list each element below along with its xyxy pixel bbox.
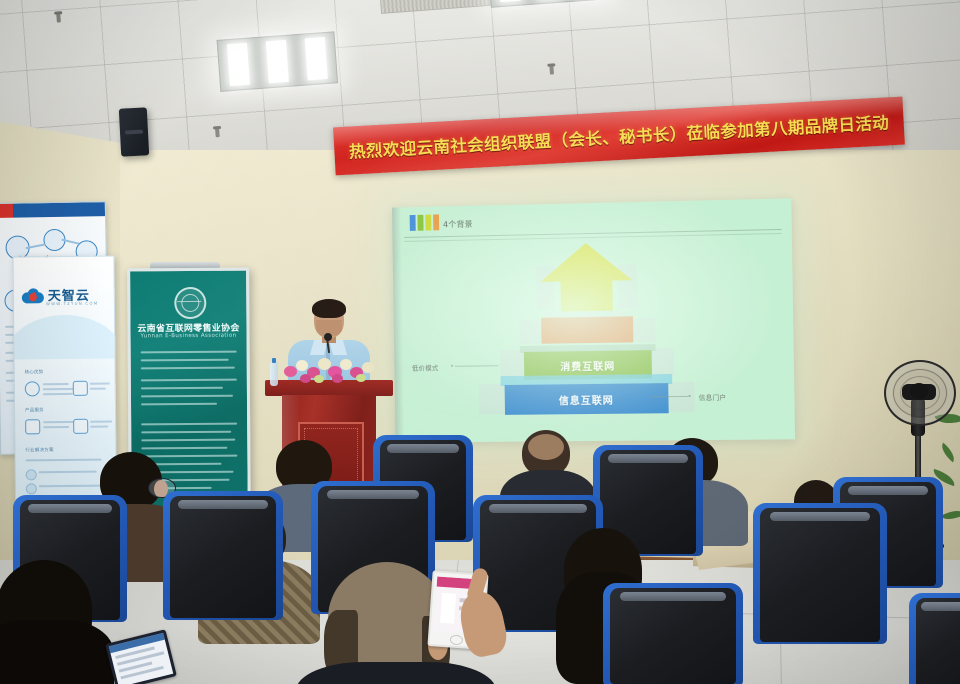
- sprinkler-icon-3: [549, 65, 554, 74]
- ceiling-light-1: [217, 31, 338, 92]
- chair-r2-5[interactable]: [760, 508, 880, 642]
- cloud-icon: [22, 288, 44, 304]
- sprinkler-icon-1: [56, 13, 61, 22]
- bar-blue-icon: [410, 215, 416, 231]
- projection-screen: 4个背景 消费互联网 信息互联网 低价模式 信息门户: [392, 198, 795, 442]
- pyramid-ghost-blue-left: [479, 384, 507, 414]
- tianzhiyun-url: WWW.TZYUN.COM: [46, 301, 99, 307]
- fan-hub: [910, 383, 928, 399]
- callout-left-label: 低价模式: [412, 362, 439, 372]
- conference-room-photo: 热烈欢迎云南社会组织联盟（会长、秘书长）莅临参加第八期品牌日活动 4个背景: [0, 0, 960, 684]
- callout-left-dot: [451, 365, 453, 367]
- poster-section-3: 行业解决方案: [25, 447, 53, 453]
- pyramid-tier-blue: 信息互联网: [505, 383, 669, 415]
- association-name-en: Yunnan E-Business Association: [135, 333, 243, 340]
- callout-right-label: 信息门户: [699, 391, 727, 401]
- wall-speaker: [119, 107, 149, 156]
- pyramid-arrow-top: [536, 240, 637, 312]
- pyramid-tier-orange: [541, 316, 633, 343]
- bar-orange-icon: [433, 214, 439, 230]
- bar-lime-icon: [425, 215, 431, 231]
- chair-r1-1[interactable]: [610, 588, 736, 684]
- poster-section-1: 核心优势: [25, 369, 44, 375]
- sprinkler-icon-2: [215, 128, 220, 137]
- flower-arrangement: [280, 354, 384, 386]
- association-emblem-icon: [174, 287, 206, 319]
- poster-section-2: 产品服务: [25, 407, 44, 413]
- speaker-hair: [312, 299, 346, 318]
- microphone-icon: [324, 333, 332, 341]
- pyramid-ghost-orange-right: [631, 318, 655, 342]
- slide-accent-bars: [410, 214, 440, 230]
- pyramid-ghost-green-left: [500, 350, 526, 378]
- chair-r2-2[interactable]: [170, 496, 276, 618]
- poster-infographic-header: [0, 202, 105, 218]
- water-bottle: [270, 362, 278, 386]
- chair-r1-2[interactable]: [916, 598, 960, 684]
- callout-right-dot: [689, 395, 691, 397]
- callout-left-line: [455, 365, 498, 367]
- bar-green-icon: [417, 215, 423, 231]
- slide-header-label: 4个背景: [443, 219, 473, 231]
- poster-cloud-wave: [12, 314, 117, 359]
- pyramid-ghost-orange-left: [519, 320, 543, 344]
